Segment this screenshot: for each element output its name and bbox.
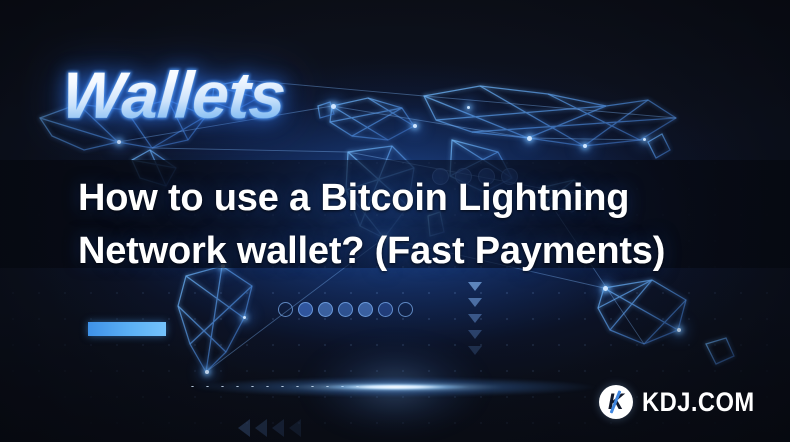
page-title-line-2: Network wallet? (Fast Payments) [78, 225, 738, 278]
article-cover-banner: Wallets Wallets How to use a Bitcoin Lig… [0, 0, 790, 442]
brand-name: KDJ.COM [642, 387, 755, 418]
light-flare-core [320, 384, 470, 391]
circle-decoration-row [278, 302, 413, 317]
page-title-line-1: How to use a Bitcoin Lightning [78, 172, 738, 225]
brand-logo[interactable]: K KDJ.COM [599, 385, 770, 419]
arrow-left-icon-group [238, 419, 301, 437]
page-title: How to use a Bitcoin Lightning Network w… [78, 172, 738, 278]
kdj-circle-mark-icon: K [599, 385, 633, 419]
category-label: Wallets [60, 62, 287, 128]
accent-underline-bar [88, 322, 166, 336]
